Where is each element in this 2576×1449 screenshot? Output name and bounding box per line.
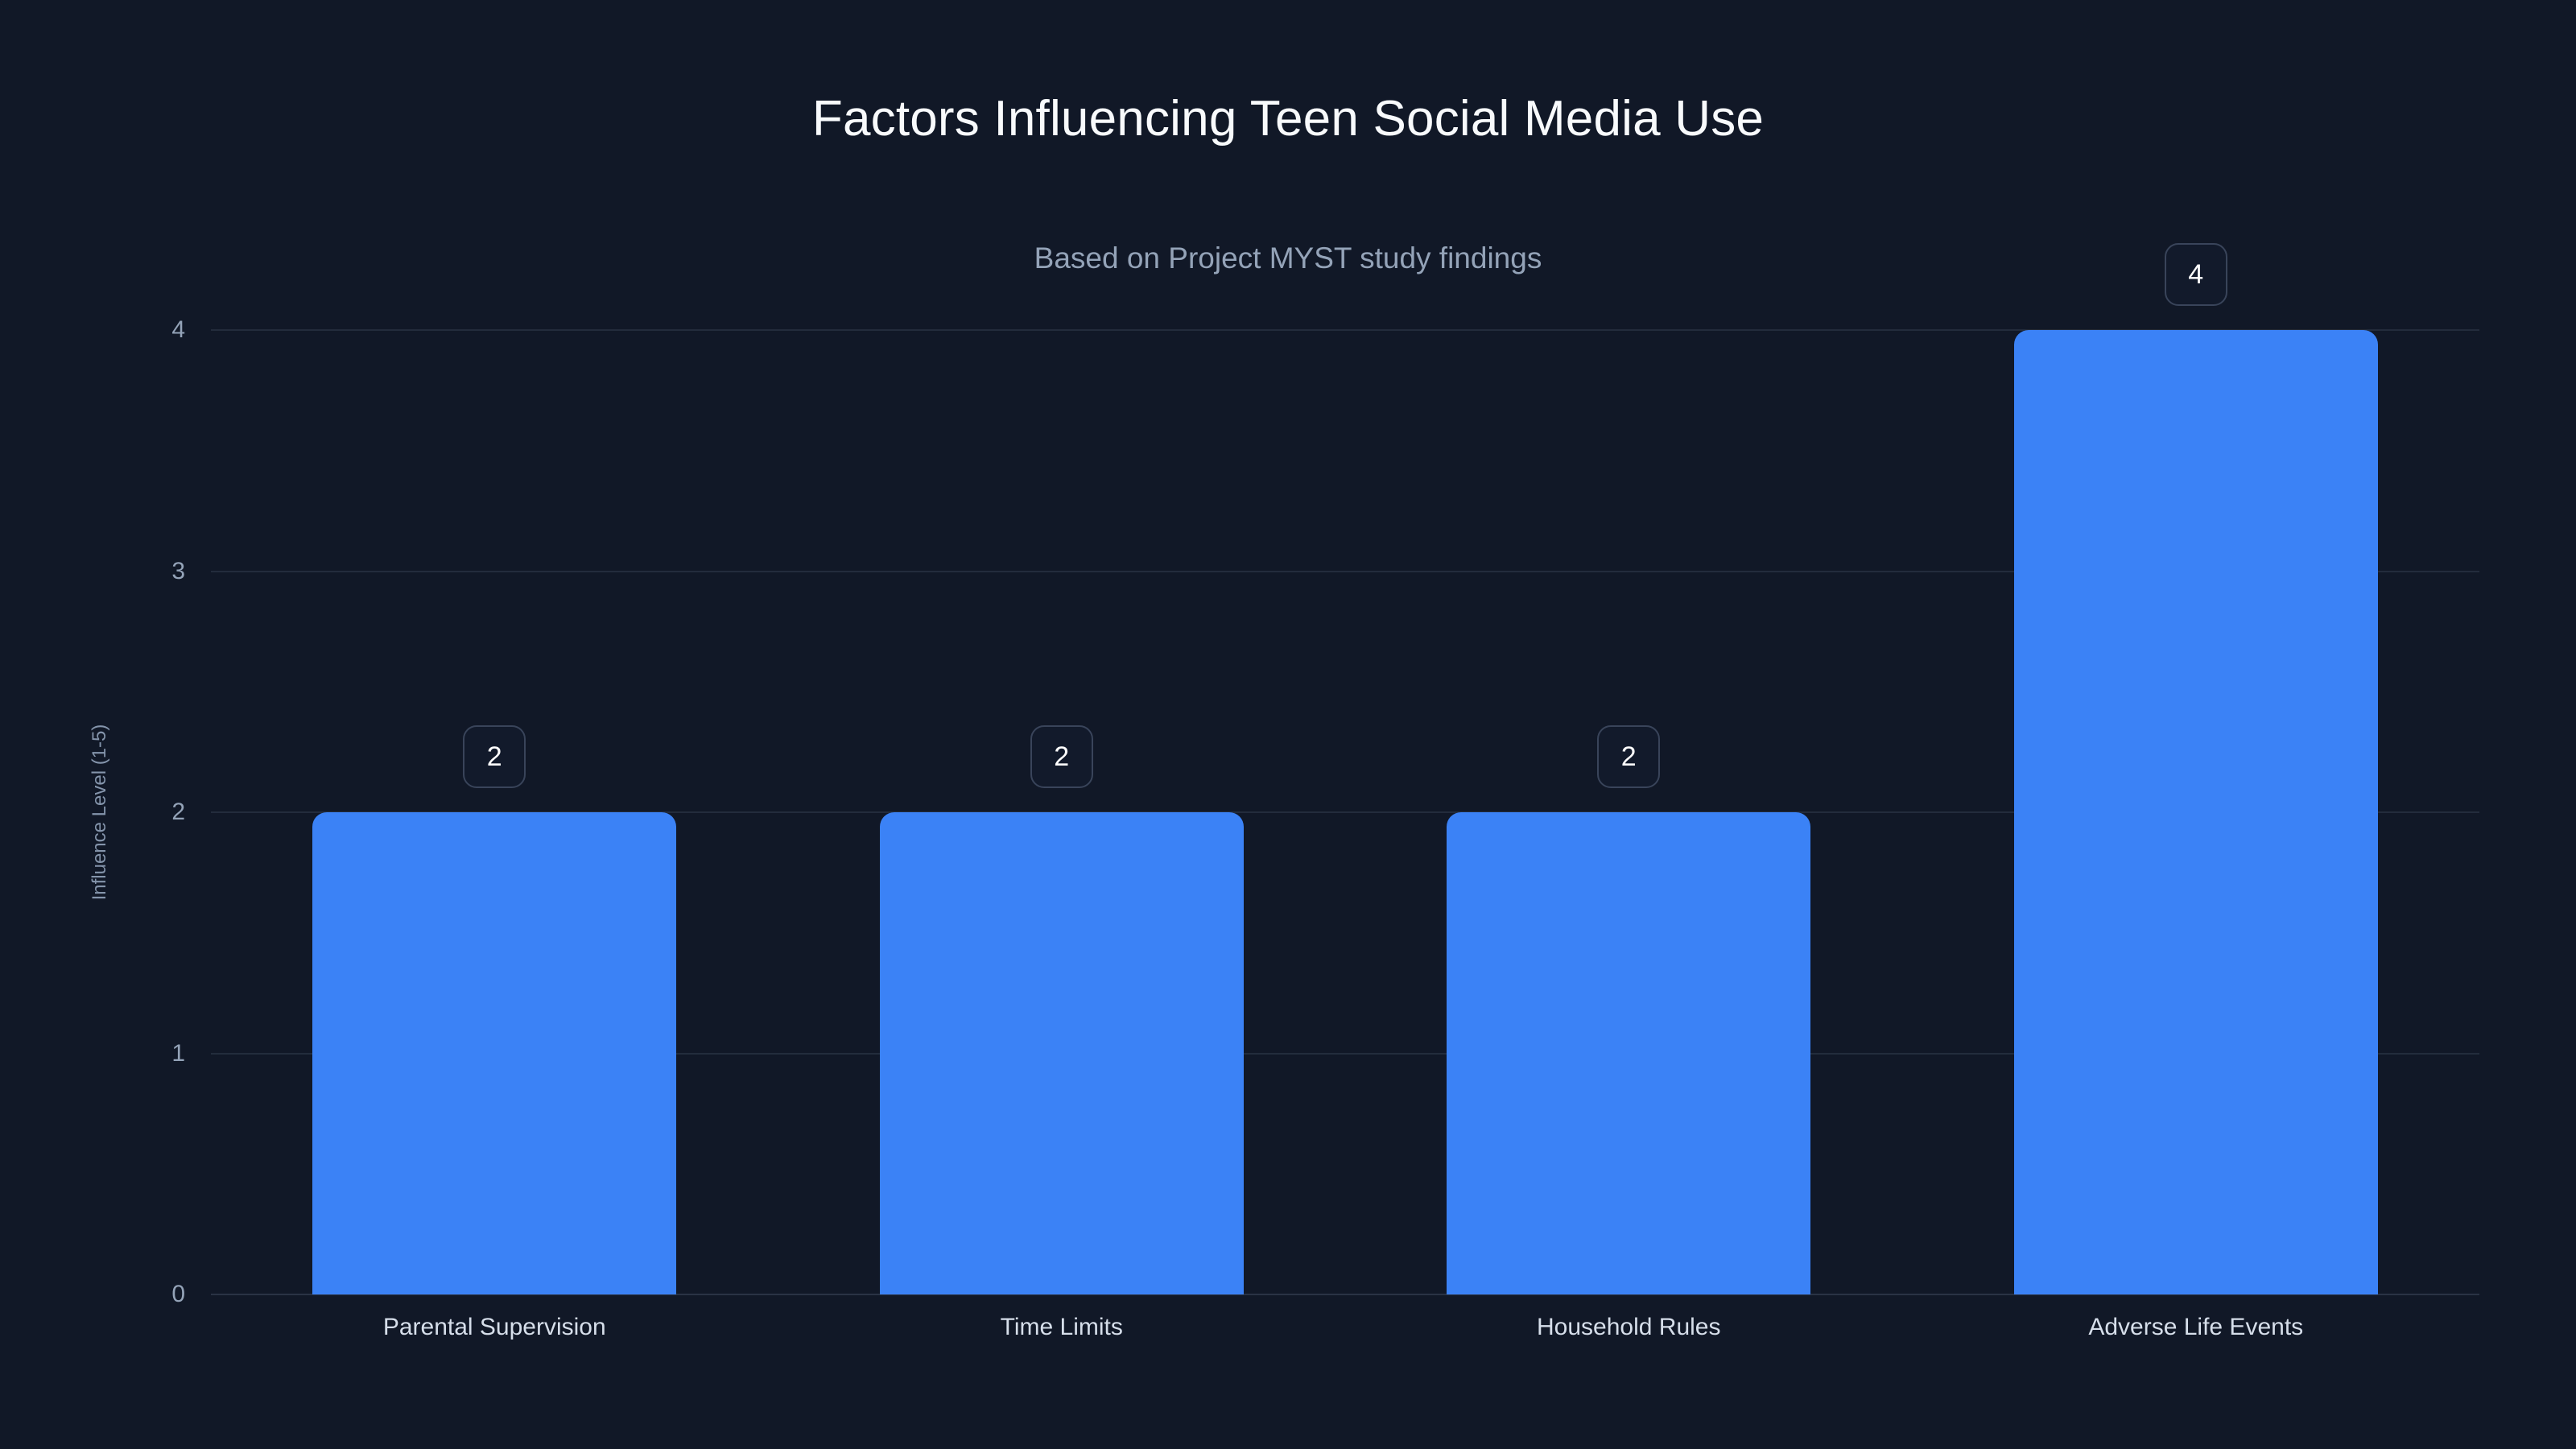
bar-group[interactable]: 4: [2014, 330, 2378, 1294]
bar-value-badge: 4: [2165, 243, 2227, 306]
plot-area: 2224 Parental SupervisionTime LimitsHous…: [211, 330, 2479, 1294]
category-label: Household Rules: [1537, 1314, 1720, 1341]
y-tick-label: 2: [64, 799, 185, 826]
bar-value-badge: 2: [1597, 725, 1660, 788]
category-label: Parental Supervision: [383, 1314, 606, 1341]
bar[interactable]: [1447, 812, 1810, 1294]
y-tick-label: 4: [64, 316, 185, 344]
bar-value-badge: 2: [1030, 725, 1093, 788]
bar[interactable]: [312, 812, 676, 1294]
bar-group[interactable]: 2: [312, 330, 676, 1294]
category-label: Time Limits: [1001, 1314, 1123, 1341]
bar-group[interactable]: 2: [880, 330, 1244, 1294]
y-tick-label: 1: [64, 1040, 185, 1067]
y-tick-label: 0: [64, 1281, 185, 1308]
bar[interactable]: [2014, 330, 2378, 1294]
bar[interactable]: [880, 812, 1244, 1294]
y-tick-label: 3: [64, 558, 185, 585]
bar-group[interactable]: 2: [1447, 330, 1810, 1294]
category-label: Adverse Life Events: [2088, 1314, 2303, 1341]
chart-canvas: Factors Influencing Teen Social Media Us…: [0, 0, 2576, 1449]
bar-value-badge: 2: [463, 725, 526, 788]
chart-title: Factors Influencing Teen Social Media Us…: [0, 90, 2576, 147]
